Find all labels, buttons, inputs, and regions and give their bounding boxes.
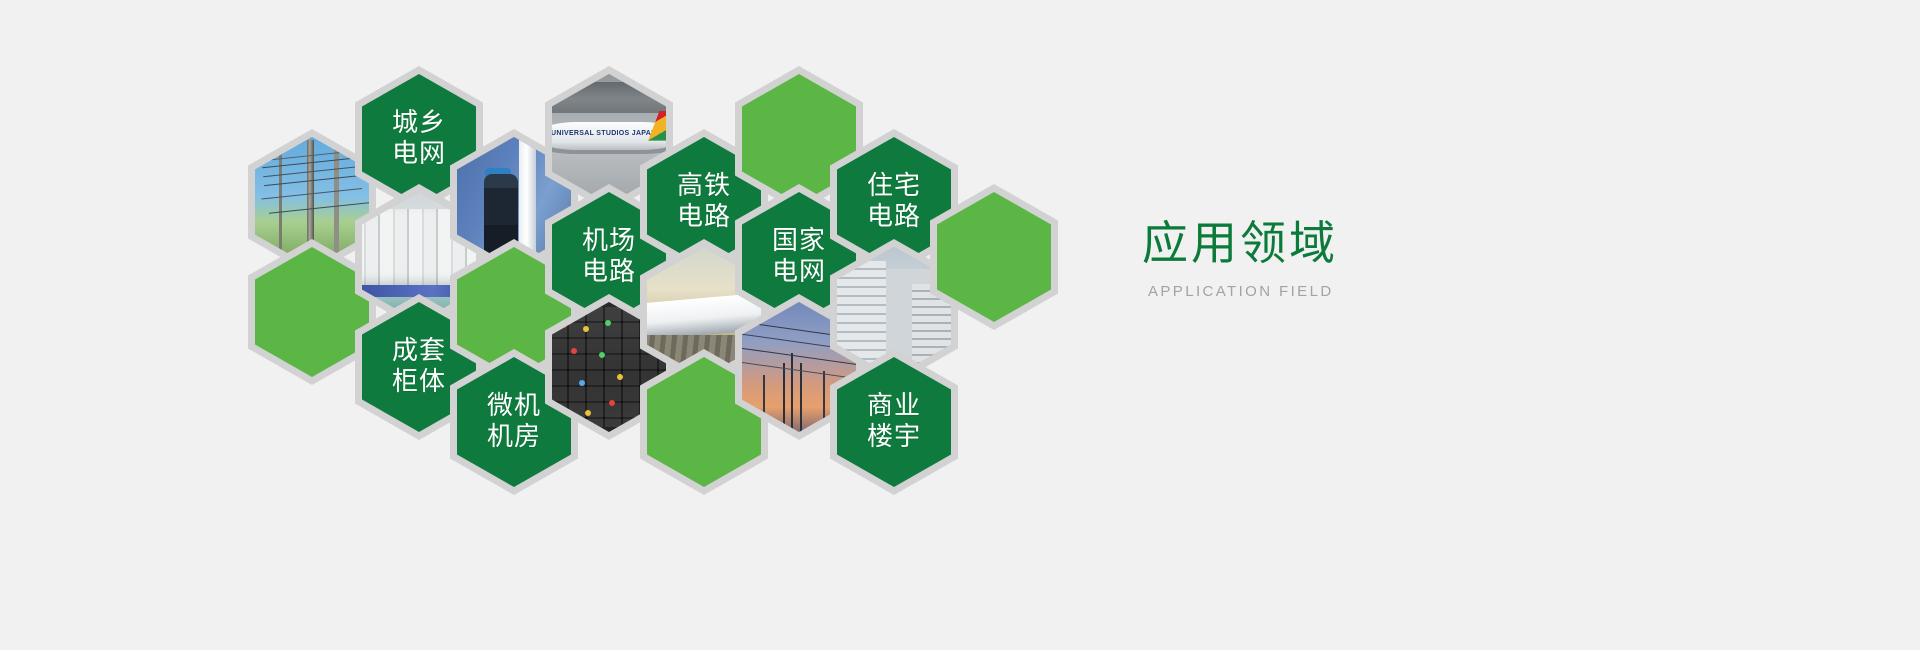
hex-label-text: 城乡 电网 — [392, 108, 446, 169]
application-field-banner: 城乡 电网 成套 柜体 微机 机房 — [0, 0, 1920, 650]
hex-inner — [937, 192, 1051, 322]
page-subtitle: APPLICATION FIELD — [1148, 283, 1562, 300]
heading-block: 应用领域 APPLICATION FIELD — [1142, 218, 1562, 300]
hex-label-text: 成套 柜体 — [392, 336, 446, 397]
page-title: 应用领域 — [1142, 218, 1562, 269]
hex-label-text: 住宅 电路 — [867, 171, 921, 232]
hex-inner — [255, 247, 369, 377]
hex-label-text: 微机 机房 — [487, 391, 541, 452]
hexagon-honeycomb: 城乡 电网 成套 柜体 微机 机房 — [0, 0, 1100, 650]
hex-inner: 商业 楼宇 — [837, 357, 951, 487]
hex-label-text: 高铁 电路 — [677, 171, 731, 232]
hex-label-text: 商业 楼宇 — [867, 391, 921, 452]
hex-label-text: 机场 电路 — [582, 226, 636, 287]
hex-label-text: 国家 电网 — [772, 226, 826, 287]
jet-livery-text: UNIVERSAL STUDIOS JAPAN — [552, 130, 656, 137]
